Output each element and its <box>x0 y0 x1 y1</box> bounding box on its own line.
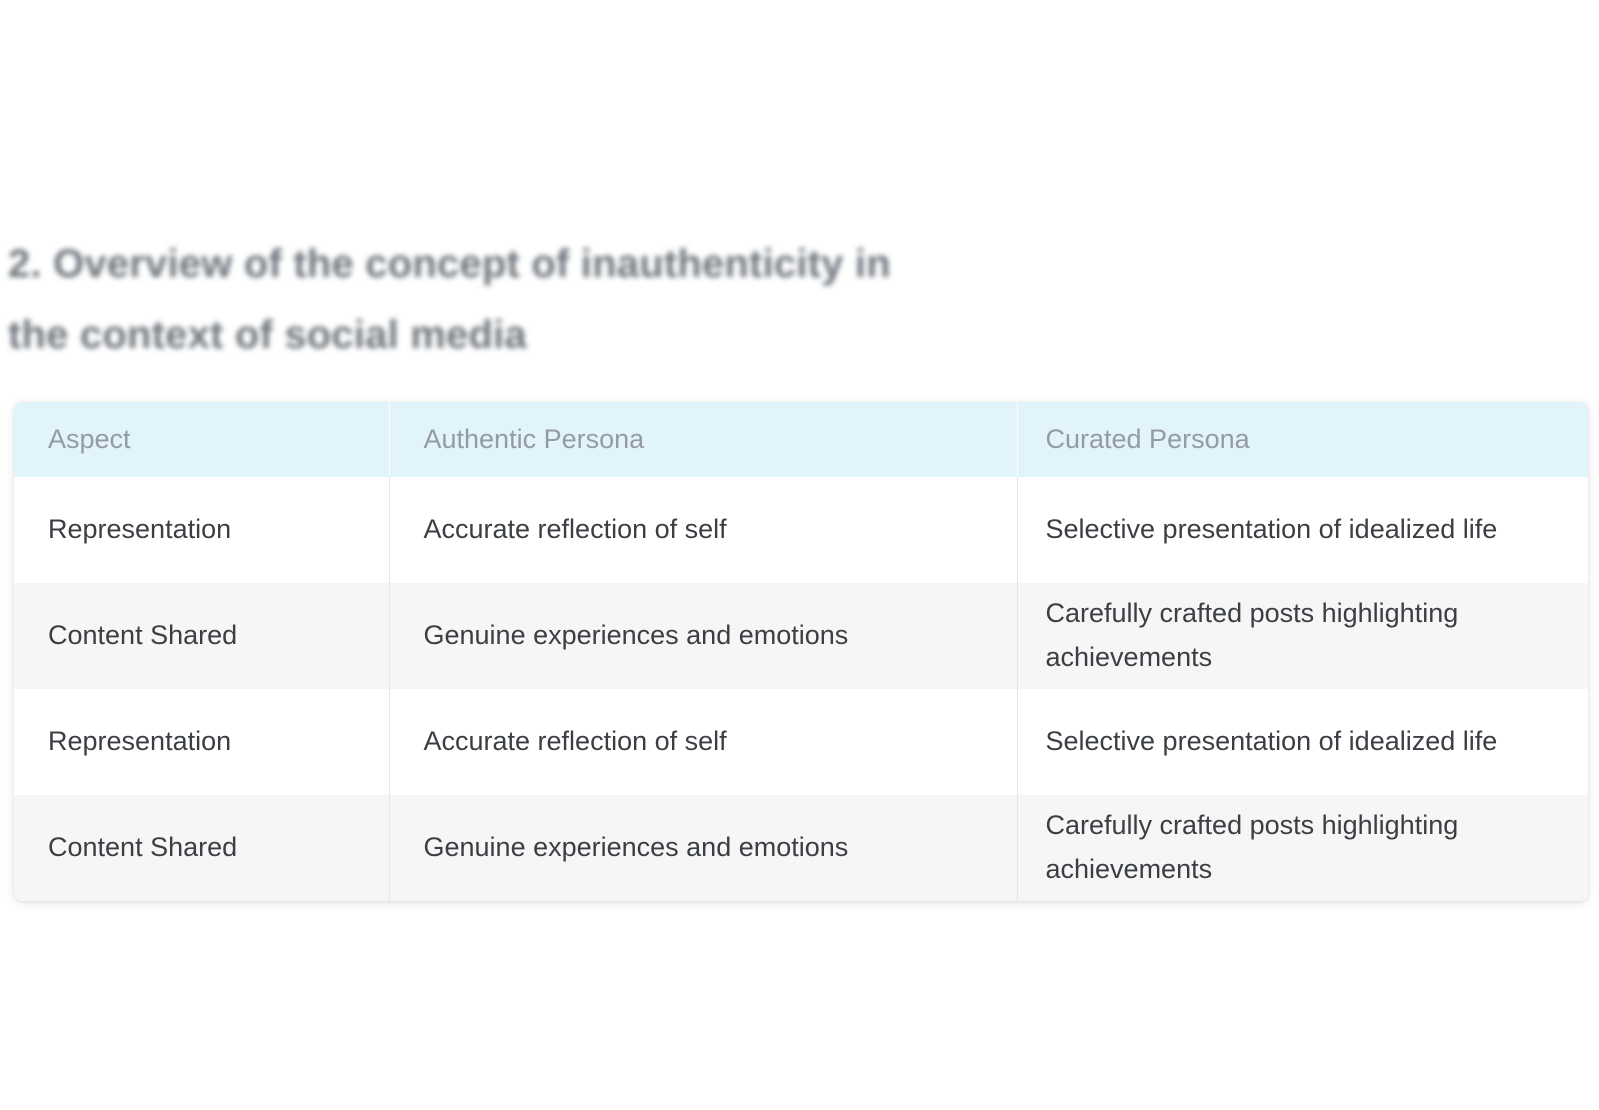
persona-comparison-table: Aspect Authentic Persona Curated Persona… <box>14 402 1588 901</box>
table-row: Representation Accurate reflection of se… <box>14 477 1588 583</box>
column-header-curated-persona: Curated Persona <box>1017 402 1588 477</box>
cell-authentic-persona: Accurate reflection of self <box>389 689 1017 795</box>
table-header: Aspect Authentic Persona Curated Persona <box>14 402 1588 477</box>
column-header-authentic-persona: Authentic Persona <box>389 402 1017 477</box>
cell-curated-persona: Selective presentation of idealized life <box>1017 689 1588 795</box>
section-heading: 2. Overview of the concept of inauthenti… <box>8 229 1088 371</box>
table-row: Content Shared Genuine experiences and e… <box>14 583 1588 689</box>
cell-aspect: Representation <box>14 477 389 583</box>
comparison-table-card: Aspect Authentic Persona Curated Persona… <box>14 402 1588 901</box>
cell-authentic-persona: Genuine experiences and emotions <box>389 583 1017 689</box>
table-row: Representation Accurate reflection of se… <box>14 689 1588 795</box>
cell-curated-persona: Carefully crafted posts highlighting ach… <box>1017 795 1588 901</box>
table-row: Content Shared Genuine experiences and e… <box>14 795 1588 901</box>
cell-aspect: Content Shared <box>14 583 389 689</box>
cell-curated-persona: Selective presentation of idealized life <box>1017 477 1588 583</box>
table-body: Representation Accurate reflection of se… <box>14 477 1588 901</box>
table-header-row: Aspect Authentic Persona Curated Persona <box>14 402 1588 477</box>
cell-curated-persona: Carefully crafted posts highlighting ach… <box>1017 583 1588 689</box>
cell-authentic-persona: Accurate reflection of self <box>389 477 1017 583</box>
cell-aspect: Content Shared <box>14 795 389 901</box>
cell-aspect: Representation <box>14 689 389 795</box>
column-header-aspect: Aspect <box>14 402 389 477</box>
document-page: 2. Overview of the concept of inauthenti… <box>0 0 1599 1110</box>
cell-authentic-persona: Genuine experiences and emotions <box>389 795 1017 901</box>
